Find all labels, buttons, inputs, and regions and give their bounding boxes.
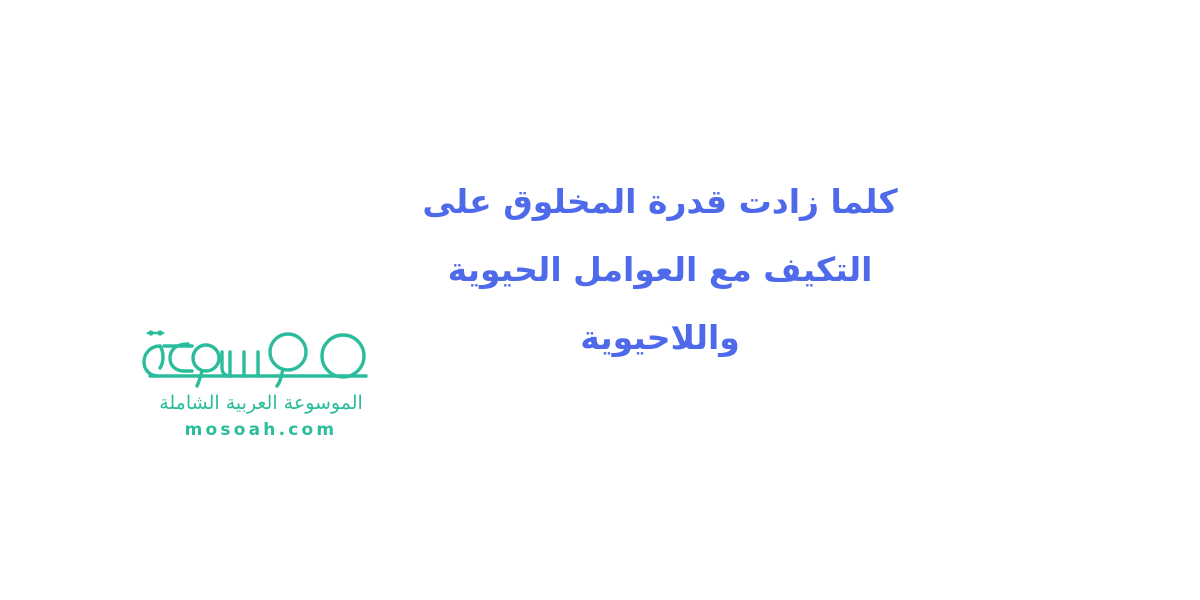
headline-line-2: التكيف مع العوامل الحيوية: [400, 236, 920, 304]
site-logo[interactable]: الموسوعة العربية الشاملة mosoah.com: [130, 316, 392, 441]
logo-tagline: الموسوعة العربية الشاملة: [130, 390, 392, 416]
headline-block: كلما زادت قدرة المخلوق على التكيف مع الع…: [400, 168, 920, 372]
page-canvas: كلما زادت قدرة المخلوق على التكيف مع الع…: [0, 0, 1200, 600]
headline-line-3: واللاحيوية: [400, 304, 920, 372]
logo-url: mosoah.com: [130, 419, 392, 441]
mosoah-wordmark-icon: [130, 316, 392, 388]
headline-line-1: كلما زادت قدرة المخلوق على: [400, 168, 920, 236]
